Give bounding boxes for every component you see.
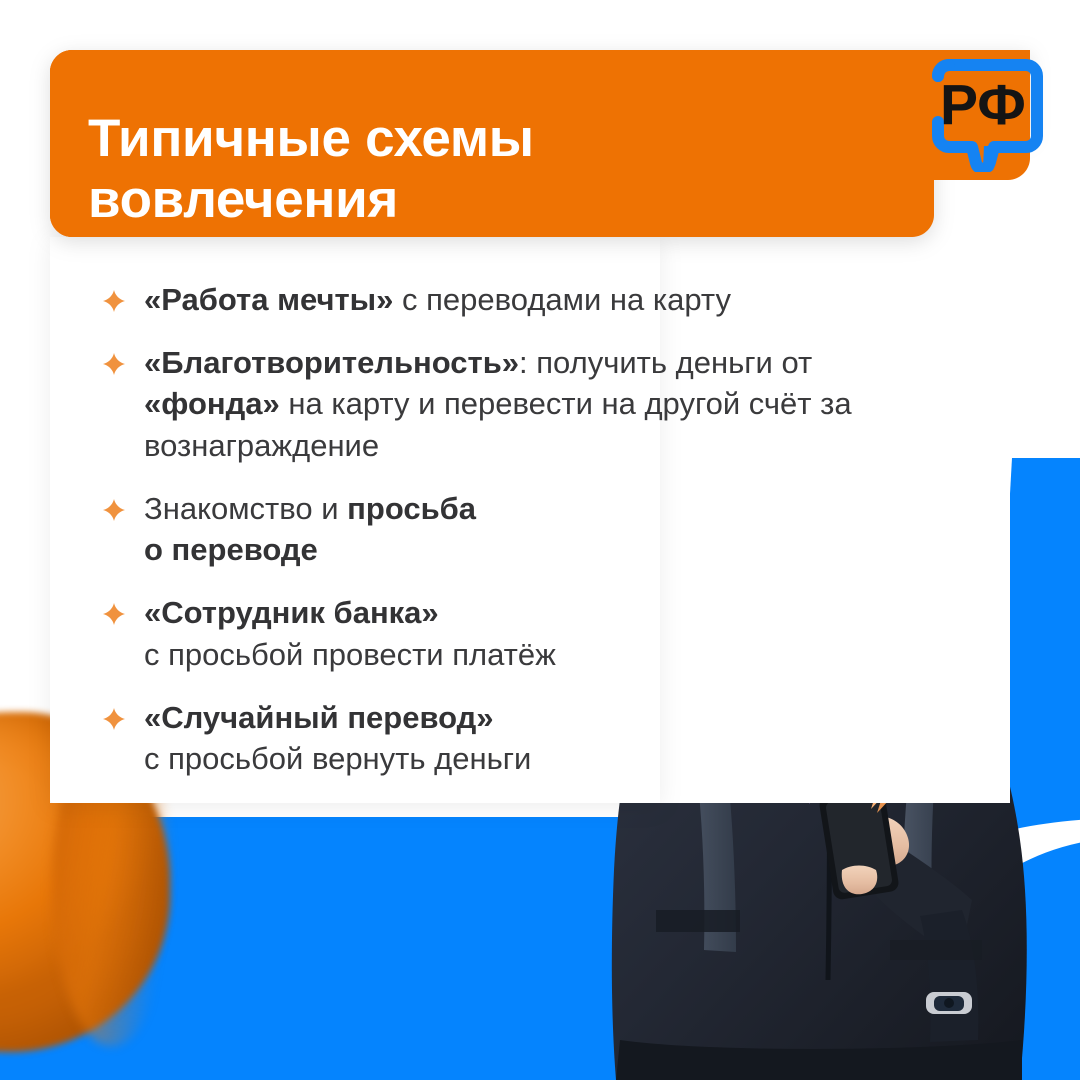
diamond-icon <box>103 603 125 625</box>
list-item: «Сотрудник банка»с просьбой провести пла… <box>100 592 930 674</box>
list-item-text: «Случайный перевод»с просьбой вернуть де… <box>144 700 531 776</box>
list-item-text: Знакомство и просьбао переводе <box>144 491 476 567</box>
list-item-text: «Сотрудник банка»с просьбой провести пла… <box>144 595 556 671</box>
scheme-list: «Работа мечты» с переводами на карту «Бл… <box>100 279 930 779</box>
list-item: «Случайный перевод»с просьбой вернуть де… <box>100 697 930 779</box>
rf-logo: РФ <box>922 50 1050 172</box>
diamond-icon <box>103 499 125 521</box>
logo-text: РФ <box>940 73 1026 137</box>
diamond-icon <box>103 290 125 312</box>
diamond-icon <box>103 353 125 375</box>
list-item: Знакомство и просьбао переводе <box>100 488 930 570</box>
diamond-icon <box>103 708 125 730</box>
infographic-poster: Типичные схемы вовлечения РФ «Работа меч… <box>0 0 1080 1080</box>
list-item: «Работа мечты» с переводами на карту <box>100 279 930 320</box>
list-item-text: «Работа мечты» с переводами на карту <box>144 282 731 317</box>
list-item-text: «Благотворительность»: получить деньги о… <box>144 345 852 462</box>
page-title: Типичные схемы вовлечения <box>88 108 848 231</box>
list-item: «Благотворительность»: получить деньги о… <box>100 342 930 466</box>
